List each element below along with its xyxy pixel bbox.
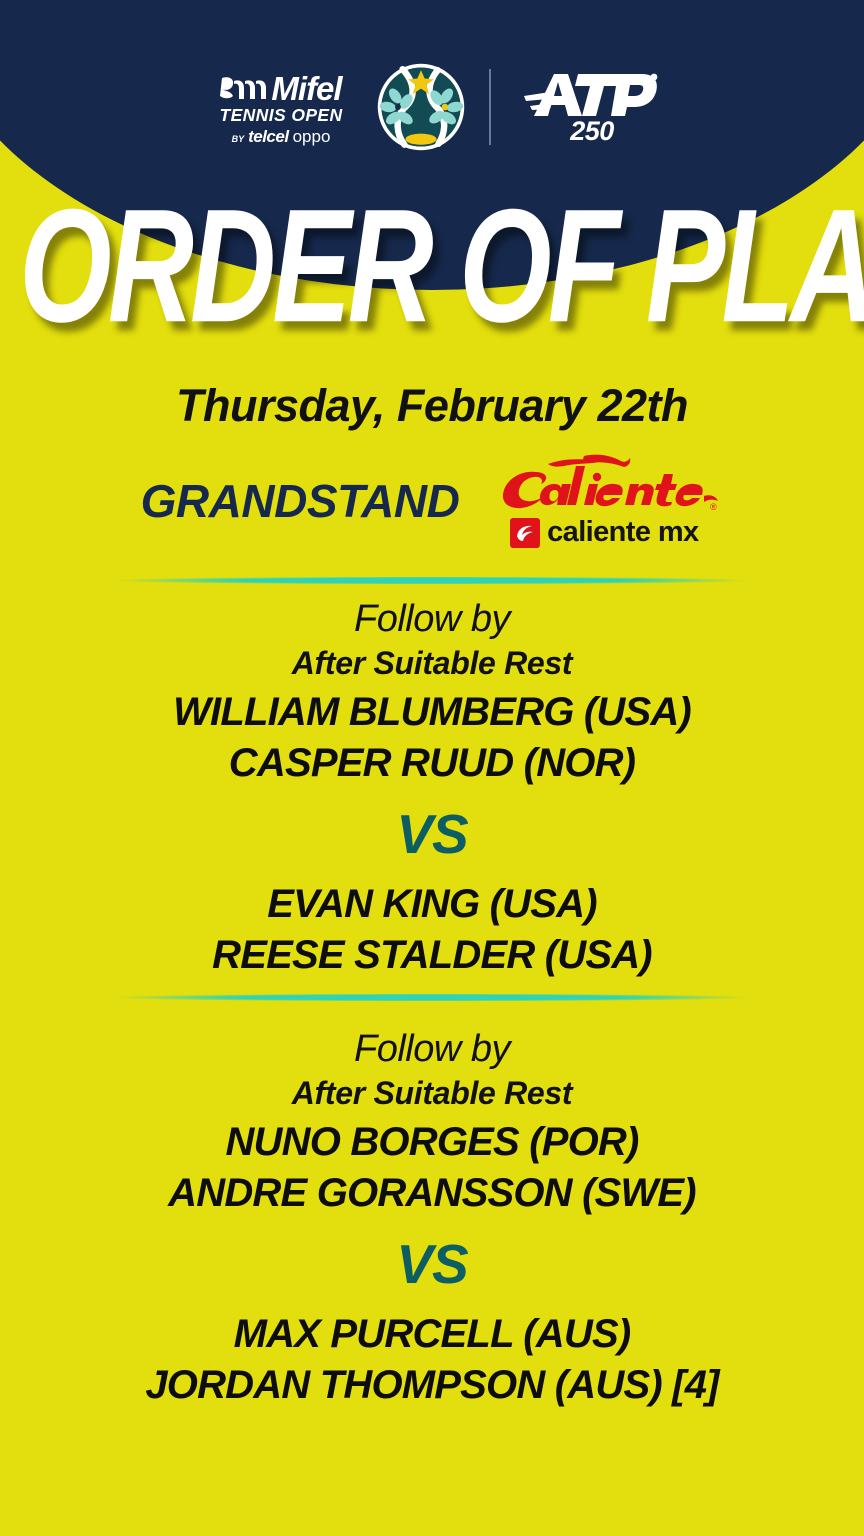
match-1-team-b-player-1: EVAN KING (USA) [0, 879, 864, 930]
match-1-schedule-note: After Suitable Rest [0, 642, 864, 684]
atp-tier-label: 250 [570, 116, 614, 147]
match-block-2: Follow by After Suitable Rest NUNO BORGE… [0, 1026, 864, 1411]
atp-wordmark-icon [524, 68, 660, 122]
match-2-schedule-label: Follow by [0, 1026, 864, 1072]
match-1-team-b-player-2: REESE STALDER (USA) [0, 930, 864, 981]
match-2-schedule-note: After Suitable Rest [0, 1072, 864, 1114]
caliente-script-icon: ® [488, 452, 720, 514]
venue-row: GRANDSTAND [0, 452, 864, 549]
order-of-play-title: ORDER OF PLAY [19, 186, 864, 347]
tennis-ball-emblem-icon [375, 61, 467, 153]
event-date: Thursday, February 22th [0, 380, 864, 432]
atp-250-logo: 250 [517, 68, 667, 147]
match-1-team-a-player-1: WILLIAM BLUMBERG (USA) [0, 687, 864, 738]
mifel-subtitle: TENNIS OPEN [219, 105, 342, 125]
mifel-tennis-open-logo: Mifel TENNIS OPEN BY telcel oppo [197, 68, 365, 147]
header-logo-bar: Mifel TENNIS OPEN BY telcel oppo [0, 52, 864, 162]
match-1-vs-label: VS [0, 803, 864, 865]
court-name: GRANDSTAND [141, 476, 460, 526]
caliente-badge-icon [510, 518, 540, 548]
match-1-team-a-player-2: CASPER RUUD (NOR) [0, 738, 864, 789]
registered-mark: ® [710, 502, 717, 512]
page-title: ORDER OF PLAY [0, 186, 864, 310]
match-2-team-b-player-1: MAX PURCELL (AUS) [0, 1309, 864, 1360]
match-block-1: Follow by After Suitable Rest WILLIAM BL… [0, 596, 864, 981]
mifel-swoosh-icon [220, 74, 266, 104]
section-divider-top [112, 577, 752, 584]
caliente-mx-label: caliente mx [547, 516, 698, 549]
mifel-wordmark: Mifel [271, 74, 341, 104]
match-2-team-a-player-2: ANDRE GORANSSON (SWE) [0, 1168, 864, 1219]
logo-divider [489, 69, 491, 145]
match-2-vs-label: VS [0, 1233, 864, 1295]
sponsor-oppo-label: oppo [293, 127, 331, 147]
order-of-play-poster: Mifel TENNIS OPEN BY telcel oppo [0, 0, 864, 1536]
sponsor-telcel-label: telcel [248, 127, 288, 147]
match-2-team-a-player-1: NUNO BORGES (POR) [0, 1117, 864, 1168]
match-1-schedule-label: Follow by [0, 596, 864, 642]
section-divider-bottom [112, 994, 752, 1001]
caliente-sponsor-logo: ® caliente mx [485, 452, 723, 549]
mifel-by-label: BY [232, 134, 245, 144]
match-2-team-b-player-2: JORDAN THOMPSON (AUS) [4] [0, 1360, 864, 1411]
